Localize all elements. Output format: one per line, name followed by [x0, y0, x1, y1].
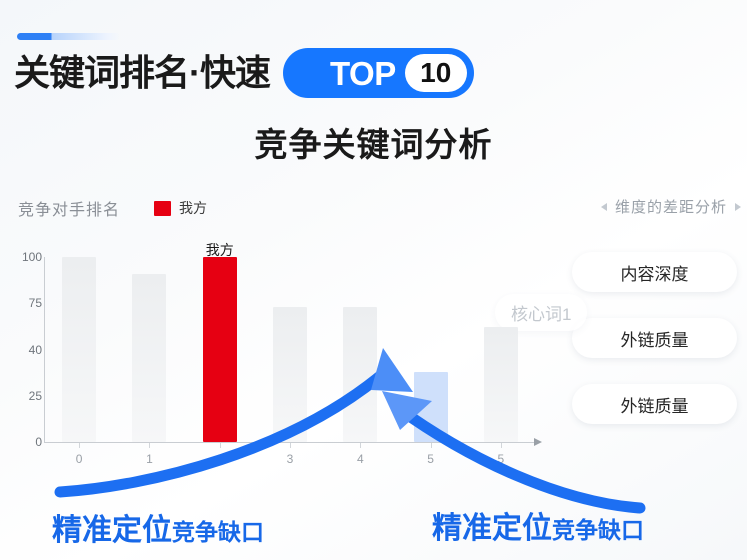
legend-swatch-icon — [154, 201, 171, 216]
dimension-card-label: 外链质量 — [621, 392, 689, 417]
progress-accent-bar — [17, 33, 120, 40]
x-axis-tick-label: 3 — [287, 452, 294, 466]
dimension-card[interactable]: 外链质量 — [572, 318, 737, 358]
caption-left: 精准定位 竞争缺口 — [52, 505, 264, 549]
legend-item-mine: 我方 — [154, 198, 207, 218]
dimension-card-label: 内容深度 — [621, 260, 689, 285]
x-axis-tick-mark — [431, 443, 432, 448]
x-axis-tick-label: 5 — [427, 452, 434, 466]
x-axis-tick-label: 0 — [76, 452, 83, 466]
caption-right-sub: 竞争缺口 — [552, 511, 644, 545]
x-axis-tick-label: 4 — [357, 452, 364, 466]
x-axis-tick-mark — [149, 443, 150, 448]
dimension-card[interactable]: 内容深度 — [572, 252, 737, 292]
caption-right: 精准定位 竞争缺口 — [432, 503, 644, 547]
dimension-card[interactable]: 外链质量 — [572, 384, 737, 424]
x-axis-tick-mark — [501, 443, 502, 448]
top-pill-label: TOP — [330, 57, 396, 90]
bar-highlight-label: 我方 — [206, 240, 234, 260]
dimension-card-label: 外链质量 — [621, 326, 689, 351]
headline-row: 关键词排名·快速 — [14, 46, 270, 100]
side-section-label: 维度的差距分析 — [615, 196, 727, 217]
chevron-left-icon — [601, 203, 607, 211]
page-subtitle: 竞争关键词分析 — [0, 118, 747, 166]
caption-right-main: 精准定位 — [432, 503, 552, 547]
page-title: 关键词排名·快速 — [14, 55, 270, 91]
top-rank-pill: TOP 10 — [283, 48, 474, 98]
x-axis-tick-label: 1 — [146, 452, 153, 466]
x-axis-tick-label: 5 — [498, 452, 505, 466]
legend-item-label: 我方 — [179, 198, 207, 218]
dimension-card-list: 内容深度 外链质量 外链质量 — [572, 252, 737, 424]
x-axis-tick-mark — [360, 443, 361, 448]
x-axis-tick-label: 2 — [216, 452, 223, 466]
competitor-bar-chart: 1007540250 0123455我方 — [0, 245, 560, 480]
caption-left-main: 精准定位 — [52, 505, 172, 549]
caption-left-sub: 竞争缺口 — [172, 513, 264, 547]
chevron-right-icon — [735, 203, 741, 211]
top-pill-badge: 10 — [405, 54, 467, 92]
chart-legend: 竞争对手排名 我方 — [18, 196, 207, 220]
x-axis-ticks: 0123455我方 — [0, 245, 560, 480]
side-section-title: 维度的差距分析 — [601, 196, 741, 217]
x-axis-tick-mark — [220, 443, 221, 448]
x-axis-tick-mark — [79, 443, 80, 448]
legend-title: 竞争对手排名 — [18, 196, 120, 220]
x-axis-tick-mark — [290, 443, 291, 448]
